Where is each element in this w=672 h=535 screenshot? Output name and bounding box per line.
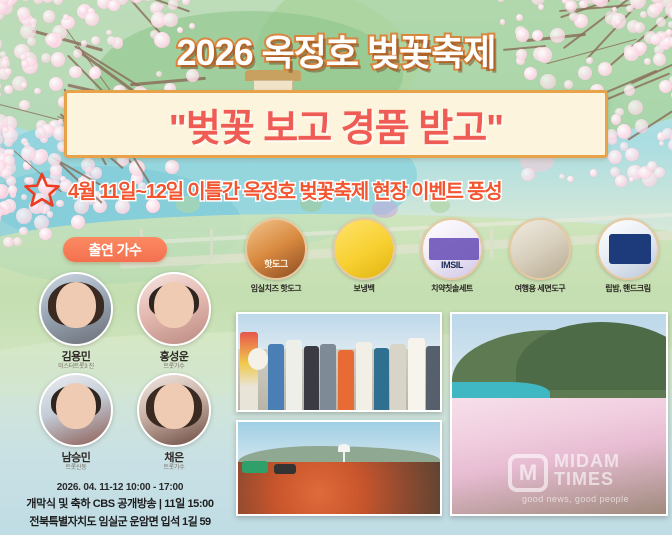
- singer-subtitle: 트롯가수: [128, 465, 220, 472]
- singer-card[interactable]: 김용민 미스터트롯3 진: [30, 272, 122, 371]
- prize-label: 립밤, 핸드크림: [588, 283, 668, 294]
- singer-name: 남승민: [30, 449, 122, 465]
- singer-card[interactable]: 홍성운 트롯가수: [128, 272, 220, 371]
- photo-festival-booth-crowd: [236, 312, 442, 412]
- singer-card[interactable]: 남승민 트롯신동: [30, 373, 122, 472]
- footer-info: 2026. 04. 11-12 10:00 - 17:00 개막식 및 축하 C…: [0, 482, 240, 529]
- blossom-petal: [7, 126, 14, 133]
- prize-item[interactable]: 여행용 세면도구: [500, 218, 580, 304]
- footer-date-time: 2026. 04. 11-12 10:00 - 17:00: [0, 482, 240, 493]
- blossom-petal: [654, 167, 665, 178]
- prize-item[interactable]: 보냉백: [324, 218, 404, 304]
- headline-banner: "벚꽃 보고 경품 받고": [64, 90, 608, 158]
- blossom-petal: [668, 139, 672, 151]
- singer-avatar: [39, 272, 113, 346]
- singer-subtitle: 트롯가수: [128, 364, 220, 371]
- prize-badge-text: 핫도그: [264, 257, 288, 270]
- footer-broadcast: 개막식 및 축하 CBS 공개방송 | 11일 15:00: [0, 495, 240, 511]
- prize-label: 치약칫솔세트: [412, 283, 492, 294]
- singer-name: 홍성운: [128, 348, 220, 364]
- prize-image: [509, 218, 571, 280]
- blossom-petal: [625, 148, 638, 161]
- blossom-petal: [607, 134, 617, 144]
- singer-section-label: 출연 가수: [89, 240, 142, 260]
- star-icon: [24, 171, 60, 207]
- prize-image: IMSIL: [421, 218, 483, 280]
- prize-item[interactable]: 립밤, 핸드크림: [588, 218, 668, 304]
- blossom-petal: [659, 141, 664, 146]
- singer-subtitle: 미스터트롯3 진: [30, 364, 122, 371]
- singer-name: 김용민: [30, 348, 122, 364]
- blossom-petal: [662, 128, 672, 139]
- headline-text: "벚꽃 보고 경품 받고": [169, 97, 503, 152]
- photo-cherry-blossom-lakeside: [450, 312, 668, 516]
- singer-avatar: [137, 272, 211, 346]
- festival-poster: 2026 옥정호 벚꽃축제 "벚꽃 보고 경품 받고" 4월 11일~12일 이…: [0, 0, 672, 535]
- event-line-text: 4월 11일~12일 이틀간 옥정호 벚꽃축제 현장 이벤트 풍성: [68, 175, 502, 204]
- prize-row: 핫도그 임실치즈 핫도그 보냉백 IMSIL 치약칫솔세트 여행용 세면도구 립…: [236, 218, 668, 304]
- singer-avatar: [137, 373, 211, 447]
- prize-image: [597, 218, 659, 280]
- blossom-petal: [657, 132, 666, 141]
- prize-label: 여행용 세면도구: [500, 283, 580, 294]
- singer-avatar: [39, 373, 113, 447]
- blossom-petal: [608, 150, 623, 165]
- prize-label: 임실치즈 핫도그: [236, 283, 316, 294]
- prize-image: 핫도그: [245, 218, 307, 280]
- singer-card[interactable]: 채은 트롯가수: [128, 373, 220, 472]
- poster-title-text: 2026 옥정호 벚꽃축제: [177, 32, 496, 73]
- poster-title: 2026 옥정호 벚꽃축제: [0, 24, 672, 76]
- singer-subtitle: 트롯신동: [30, 465, 122, 472]
- prize-image: [333, 218, 395, 280]
- blossom-petal: [2, 128, 12, 138]
- singer-section-badge: 출연 가수: [63, 237, 167, 262]
- prize-item[interactable]: 핫도그 임실치즈 핫도그: [236, 218, 316, 304]
- prize-badge-text: IMSIL: [441, 260, 463, 270]
- event-line: 4월 11일~12일 이틀간 옥정호 벚꽃축제 현장 이벤트 풍성: [24, 172, 654, 206]
- footer-address: 전북특별자치도 임실군 운암면 입석 1길 59: [0, 513, 240, 529]
- singer-grid: 김용민 미스터트롯3 진 홍성운 트롯가수 남승민 트롯신동 채은 트롯가수: [30, 272, 220, 472]
- prize-label: 보냉백: [324, 283, 404, 294]
- singer-name: 채은: [128, 449, 220, 465]
- prize-item[interactable]: IMSIL 치약칫솔세트: [412, 218, 492, 304]
- blossom-petal: [620, 142, 628, 150]
- blossom-petal: [647, 161, 658, 172]
- photo-festival-aerial-crowd: [236, 420, 442, 516]
- blossom-petal: [2, 127, 8, 133]
